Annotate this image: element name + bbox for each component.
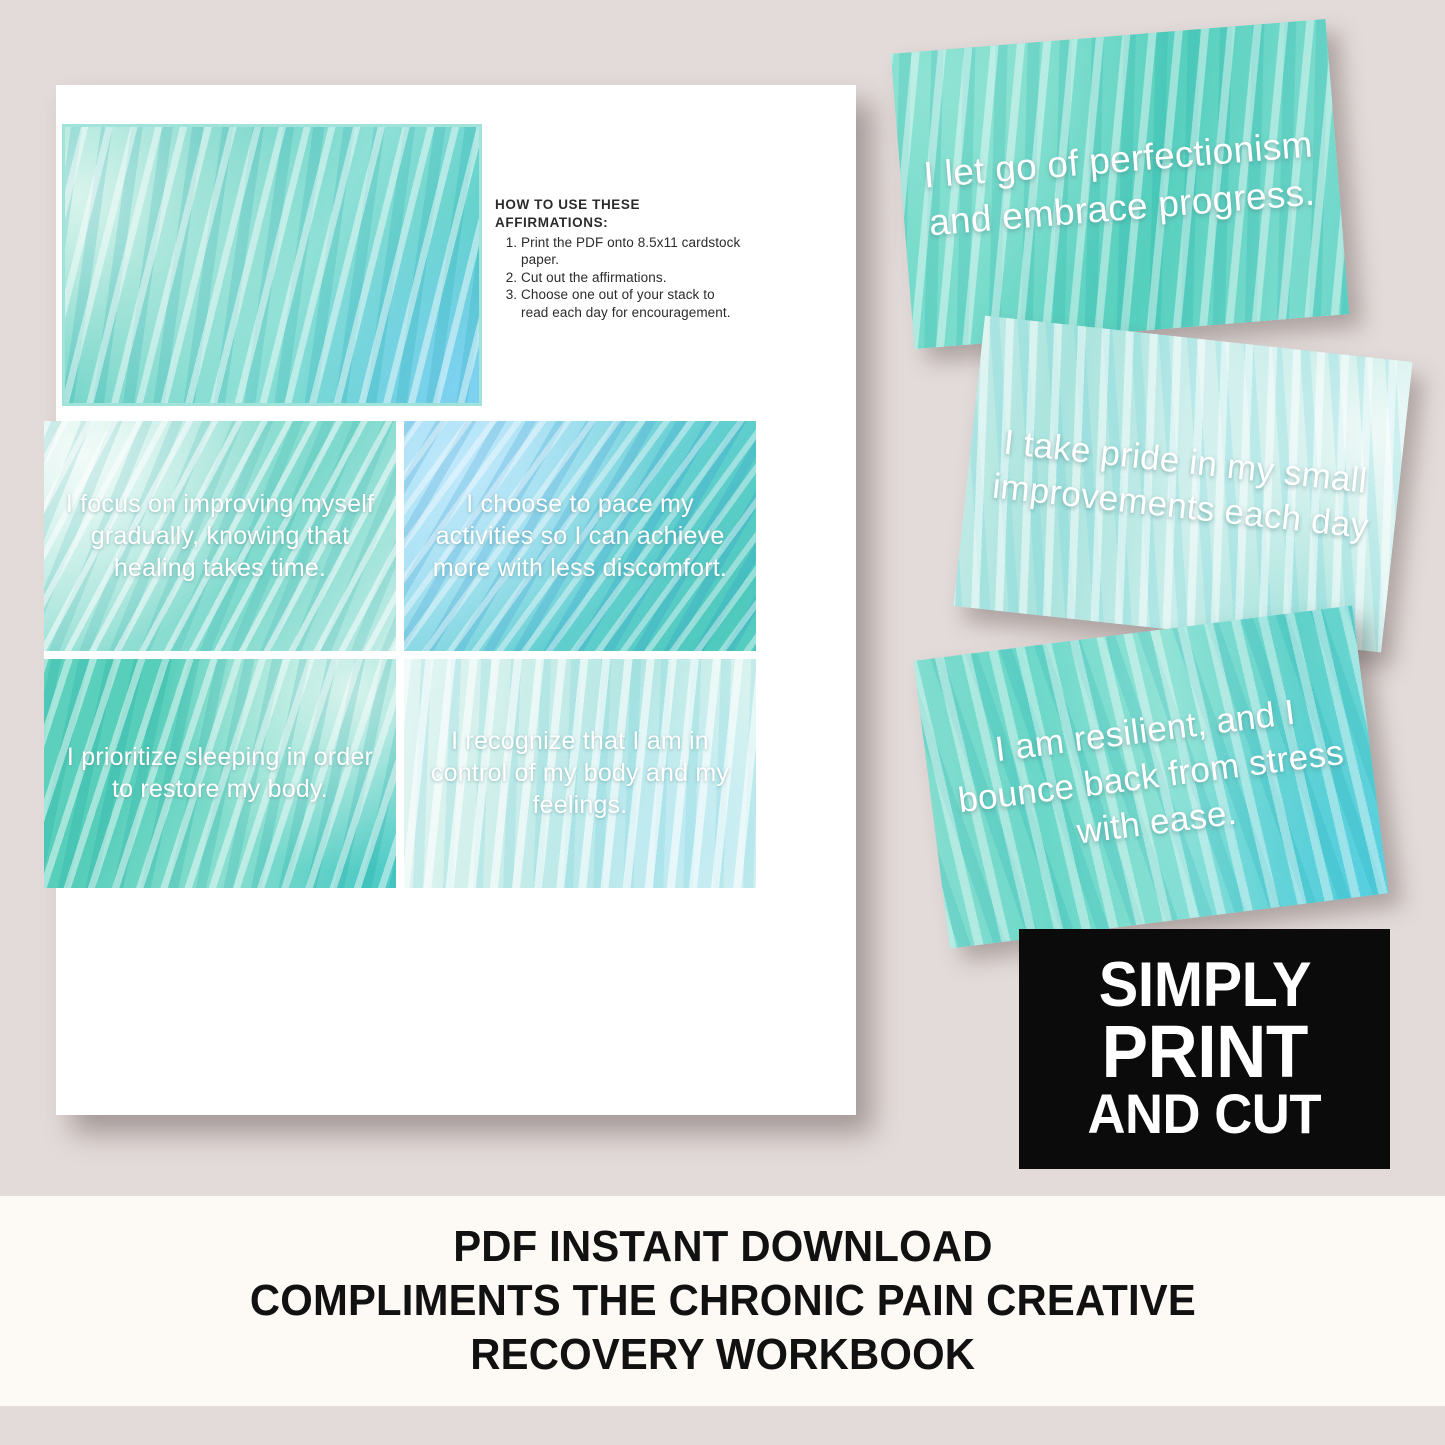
caption-band: PDF INSTANT DOWNLOAD COMPLIMENTS THE CHR… xyxy=(0,1196,1445,1406)
floating-affirmation-card: I take pride in my small improvements ea… xyxy=(953,316,1412,653)
badge-line-3: AND CUT xyxy=(1088,1087,1322,1141)
instructions-title-line-1: HOW TO USE THESE xyxy=(495,197,640,212)
instruction-step: Cut out the affirmations. xyxy=(521,269,745,287)
badge-line-1: SIMPLY xyxy=(1098,955,1310,1015)
badge-line-2: PRINT xyxy=(1101,1016,1307,1087)
affirmation-card-grid: I focus on improving myself gradually, k… xyxy=(44,421,756,888)
instructions-title-line-2: AFFIRMATIONS: xyxy=(495,215,608,230)
floating-affirmation-card: I let go of perfectionism and embrace pr… xyxy=(891,19,1349,349)
instructions-block: HOW TO USE THESE AFFIRMATIONS: Print the… xyxy=(495,196,745,321)
caption-line-3: RECOVERY WORKBOOK xyxy=(470,1330,975,1380)
affirmation-card: I prioritize sleeping in order to restor… xyxy=(44,659,396,889)
instruction-step: Choose one out of your stack to read eac… xyxy=(521,286,745,321)
affirmation-text: I choose to pace my activities so I can … xyxy=(404,488,756,584)
affirmation-text: I focus on improving myself gradually, k… xyxy=(44,488,396,584)
cover-texture xyxy=(62,124,482,406)
floating-affirmation-card: I am resilient, and I bounce back from s… xyxy=(914,605,1389,948)
instruction-step: Print the PDF onto 8.5x11 cardstock pape… xyxy=(521,234,745,269)
instructions-title: HOW TO USE THESE AFFIRMATIONS: xyxy=(495,196,745,232)
affirmation-text: I prioritize sleeping in order to restor… xyxy=(44,741,396,805)
simply-print-and-cut-badge: SIMPLY PRINT AND CUT xyxy=(1019,929,1390,1169)
cover-card: 60 Affirmations for Healing Chronic Pain xyxy=(62,124,482,406)
affirmation-card: I recognize that I am in control of my b… xyxy=(404,659,756,889)
affirmation-text: I recognize that I am in control of my b… xyxy=(404,725,756,821)
caption-line-2: COMPLIMENTS THE CHRONIC PAIN CREATIVE xyxy=(249,1276,1195,1326)
caption-line-1: PDF INSTANT DOWNLOAD xyxy=(453,1222,992,1272)
affirmation-card: I focus on improving myself gradually, k… xyxy=(44,421,396,651)
instructions-list: Print the PDF onto 8.5x11 cardstock pape… xyxy=(495,234,745,322)
affirmation-card: I choose to pace my activities so I can … xyxy=(404,421,756,651)
product-listing-image: 60 Affirmations for Healing Chronic Pain… xyxy=(0,0,1445,1445)
